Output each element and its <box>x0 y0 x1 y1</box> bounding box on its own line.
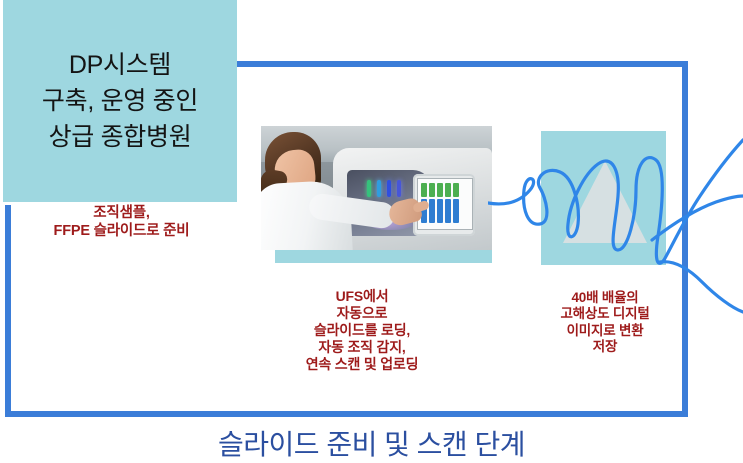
caption-digital-line-2: 고해상도 디지털 <box>533 306 677 322</box>
caption-scan-workflow: UFS에서 자동으로 슬라이드를 로딩, 자동 조직 감지, 연속 스캔 및 업… <box>248 288 476 373</box>
caption-tissue-sample: 조직샘플, FFPE 슬라이드로 준비 <box>0 205 243 240</box>
scanner-photo <box>261 126 492 250</box>
caption-scan-line-5: 연속 스캔 및 업로딩 <box>248 356 476 373</box>
hospital-box-text: DP시스템 구축, 운영 중인 상급 종합병원 <box>42 47 198 156</box>
caption-scan-line-3: 슬라이드를 로딩, <box>248 322 476 339</box>
stage-title: 슬라이드 준비 및 스캔 단계 <box>0 423 743 463</box>
touchscreen-bar <box>437 199 443 223</box>
frame-line-bottom <box>5 411 688 417</box>
caption-digital-line-1: 40배 배율의 <box>533 290 677 306</box>
caption-tissue-sample-line-2: FFPE 슬라이드로 준비 <box>0 223 243 241</box>
touchscreen-bar <box>429 199 435 223</box>
caption-scan-line-2: 자동으로 <box>248 305 476 322</box>
scanner-indicator-led-2 <box>377 180 381 197</box>
frame-line-right <box>682 61 688 417</box>
scanner-indicator-led-3 <box>387 180 391 197</box>
touchscreen-bar <box>421 183 427 197</box>
hospital-box-line-3: 상급 종합병원 <box>42 119 198 155</box>
hospital-box: DP시스템 구축, 운영 중인 상급 종합병원 <box>3 0 237 202</box>
digital-image-panel <box>541 131 666 265</box>
scanner-indicator-led-4 <box>397 180 401 197</box>
frame-line-top <box>237 61 688 67</box>
touchscreen-bar <box>445 199 451 223</box>
caption-digital-line-3: 이미지로 변환 <box>533 323 677 339</box>
touchscreen-bar <box>437 183 443 197</box>
image-placeholder-triangle-icon <box>563 161 647 243</box>
scanner-photo-accent-band <box>275 250 492 263</box>
touchscreen-bar <box>453 199 459 223</box>
touchscreen-bar <box>453 183 459 197</box>
scanner-indicator-led-1 <box>367 180 371 197</box>
hospital-box-line-1: DP시스템 <box>42 47 198 83</box>
caption-scan-line-4: 자동 조직 감지, <box>248 339 476 356</box>
caption-scan-line-1: UFS에서 <box>248 288 476 305</box>
touchscreen-bar <box>445 183 451 197</box>
caption-digital-line-4: 저장 <box>533 339 677 355</box>
squiggle-branch-upper <box>664 140 743 260</box>
caption-digital-conversion: 40배 배율의 고해상도 디지털 이미지로 변환 저장 <box>533 290 677 356</box>
diagram-canvas: DP시스템 구축, 운영 중인 상급 종합병원 조직샘플, FFPE 슬라이드로… <box>0 0 743 463</box>
touchscreen-bar <box>429 183 435 197</box>
caption-tissue-sample-line-1: 조직샘플, <box>0 205 243 223</box>
hospital-box-line-2: 구축, 운영 중인 <box>42 83 198 119</box>
